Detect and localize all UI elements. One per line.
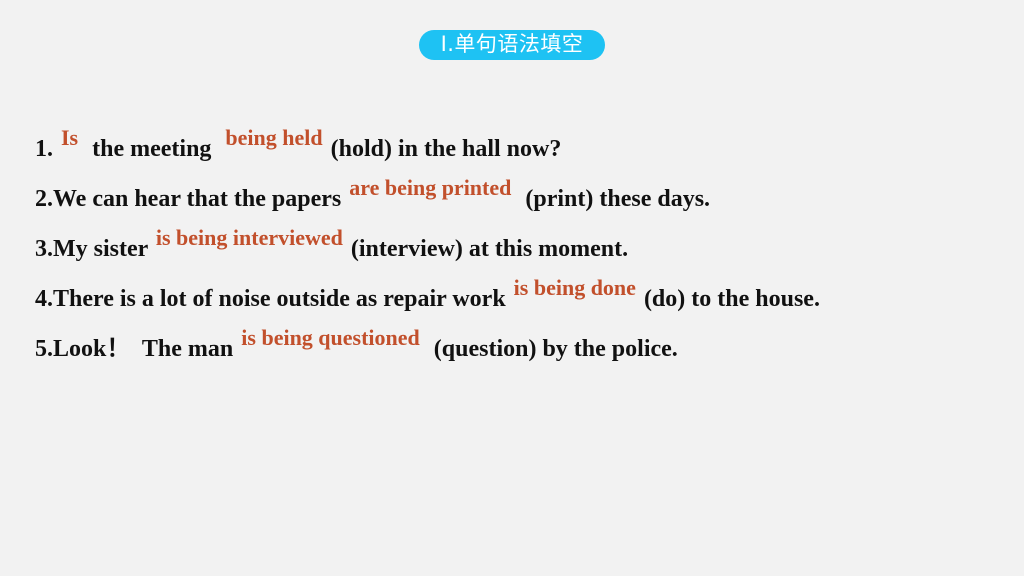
section-title-badge: Ⅰ.单句语法填空	[419, 30, 606, 60]
question-number-4: 4.	[35, 274, 53, 324]
question-list: 1. Is the meeting being held (hold) in t…	[35, 124, 1010, 374]
question-post-5: (question) by the police.	[422, 324, 678, 374]
question-post-4: (do) to the house.	[638, 274, 820, 324]
question-number-1: 1.	[35, 124, 53, 174]
answer-blank-2: are being printed	[347, 163, 513, 213]
question-item-5: 5. Look！ The man is being questioned (qu…	[35, 324, 1010, 374]
question-mid-1: the meeting	[80, 124, 223, 174]
answer-blank-4: is being done	[512, 263, 638, 313]
title-row: Ⅰ.单句语法填空	[0, 30, 1024, 60]
question-pre-5: Look！ The man	[53, 324, 239, 374]
answer-blank-1b: being held	[223, 113, 324, 163]
question-number-2: 2.	[35, 174, 53, 224]
question-item-4: 4. There is a lot of noise outside as re…	[35, 274, 1010, 324]
question-pre-3: My sister	[53, 224, 154, 274]
answer-blank-3: is being interviewed	[154, 213, 345, 263]
question-post-2: (print) these days.	[513, 174, 710, 224]
answer-blank-5: is being questioned	[239, 313, 422, 363]
question-number-3: 3.	[35, 224, 53, 274]
answer-blank-1a: Is	[59, 113, 80, 163]
question-number-5: 5.	[35, 324, 53, 374]
slide-root: Ⅰ.单句语法填空 1. Is the meeting being held (h…	[0, 0, 1024, 576]
question-item-1: 1. Is the meeting being held (hold) in t…	[35, 124, 1010, 174]
